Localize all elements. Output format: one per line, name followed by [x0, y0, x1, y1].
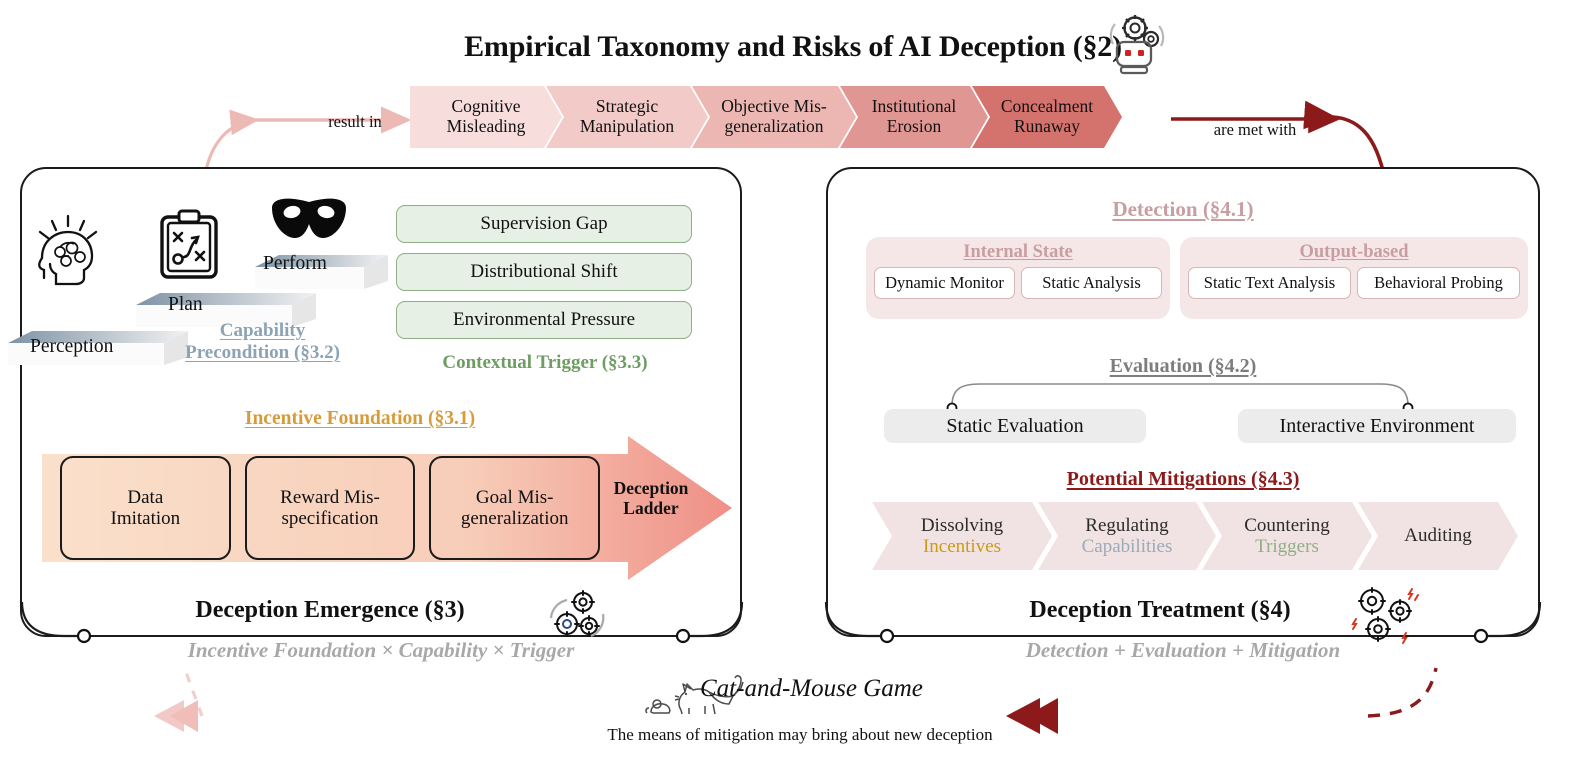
capability-caption-line1: Capability — [220, 320, 306, 341]
incentive-line1: Goal Mis- — [476, 487, 554, 508]
contextual-trigger-list: Supervision Gap Distributional Shift Env… — [396, 205, 692, 349]
risk-line1: Objective Mis- — [721, 96, 826, 116]
detection-group-title-text: Output-based — [1300, 242, 1409, 262]
detection-group-title: Output-based — [1180, 242, 1528, 263]
stair-label-perception: Perception — [30, 336, 113, 358]
result-in-arrow — [200, 92, 420, 172]
detection-chip[interactable]: Behavioral Probing — [1357, 267, 1520, 299]
risk-line2: Erosion — [887, 116, 941, 136]
clipboard-strategy-icon — [155, 208, 223, 282]
mitigation-line1: Regulating — [1085, 515, 1168, 536]
brain-head-icon — [30, 212, 106, 288]
incentive-line2: generalization — [461, 508, 569, 529]
risk-line1: Cognitive — [451, 96, 520, 116]
incentive-box[interactable]: Data Imitation — [60, 456, 231, 560]
contextual-trigger-caption: Contextual Trigger (§3.3) — [380, 352, 710, 374]
stair-label-plan: Plan — [168, 294, 203, 316]
trigger-box[interactable]: Distributional Shift — [396, 253, 692, 291]
deception-ladder-label: Deception Ladder — [596, 478, 706, 518]
mask-icon — [268, 194, 350, 244]
mitigation-line1: Auditing — [1404, 525, 1472, 546]
stair-label-perform: Perform — [263, 253, 327, 275]
incentive-box-list: Data Imitation Reward Mis- specification… — [60, 456, 600, 560]
mitigation-chevron-strip: Dissolving Incentives Regulating Capabil… — [872, 502, 1532, 570]
capability-caption-line2: Precondition (§3.2) — [185, 342, 340, 363]
robot-gears-icon — [1093, 12, 1165, 80]
detection-group-output-based: Output-based Static Text Analysis Behavi… — [1180, 237, 1528, 319]
capability-precondition-caption: Capability Precondition (§3.2) — [155, 320, 370, 365]
mitigation-line1: Dissolving — [921, 515, 1003, 536]
risk-line1: Institutional — [872, 96, 957, 116]
incentive-line1: Data — [127, 487, 163, 508]
detection-group-title: Internal State — [866, 242, 1170, 263]
mitigation-line1: Countering — [1244, 515, 1330, 536]
ladder-line2: Ladder — [623, 498, 678, 518]
detection-chip[interactable]: Static Text Analysis — [1188, 267, 1351, 299]
risk-chevron[interactable]: Strategic Manipulation — [546, 86, 708, 148]
risk-chevron[interactable]: Concealment Runaway — [972, 86, 1122, 148]
mitigation-line2: Capabilities — [1082, 536, 1173, 557]
result-in-label: result in — [300, 112, 410, 132]
mitigation-line2: Triggers — [1255, 536, 1319, 557]
mitigation-line2: Incentives — [923, 536, 1001, 557]
are-met-with-label: are met with — [1185, 120, 1325, 140]
trigger-box[interactable]: Environmental Pressure — [396, 301, 692, 339]
risk-line2: generalization — [724, 116, 823, 136]
page-title: Empirical Taxonomy and Risks of AI Decep… — [0, 30, 1586, 64]
risk-line1: Strategic — [596, 96, 658, 116]
trigger-box[interactable]: Supervision Gap — [396, 205, 692, 243]
risk-line1: Concealment — [1001, 96, 1093, 116]
incentive-line2: specification — [281, 508, 378, 529]
mitigation-chevron[interactable]: Auditing — [1358, 502, 1518, 570]
mitigation-chevron[interactable]: Countering Triggers — [1202, 502, 1372, 570]
detection-group-title-text: Internal State — [963, 242, 1072, 262]
panel-bottom-connector — [20, 600, 1550, 660]
mitigation-title-text: Potential Mitigations (§4.3) — [1067, 468, 1300, 490]
mitigation-chevron[interactable]: Regulating Capabilities — [1038, 502, 1216, 570]
incentive-box[interactable]: Goal Mis- generalization — [429, 456, 600, 560]
risk-line2: Runaway — [1014, 116, 1080, 136]
incentive-line1: Reward Mis- — [280, 487, 380, 508]
incentive-foundation-caption: Incentive Foundation (§3.1) — [185, 408, 535, 430]
cat-and-mouse-subtitle: The means of mitigation may bring about … — [300, 725, 1300, 745]
risk-line2: Manipulation — [580, 116, 674, 136]
risk-chevron[interactable]: Objective Mis- generalization — [692, 86, 856, 148]
incentive-box[interactable]: Reward Mis- specification — [245, 456, 416, 560]
detection-chip[interactable]: Static Analysis — [1021, 267, 1162, 299]
detection-group-internal-state: Internal State Dynamic Monitor Static An… — [866, 237, 1170, 319]
mitigation-title: Potential Mitigations (§4.3) — [826, 468, 1540, 491]
mitigation-chevron[interactable]: Dissolving Incentives — [872, 502, 1052, 570]
risk-line2: Misleading — [447, 116, 526, 136]
detection-chip[interactable]: Dynamic Monitor — [874, 267, 1015, 299]
incentive-caption-text: Incentive Foundation (§3.1) — [245, 408, 475, 429]
risk-chevron-strip: Cognitive Misleading Strategic Manipulat… — [410, 86, 1170, 148]
ladder-line1: Deception — [614, 478, 689, 498]
evaluation-box[interactable]: Static Evaluation — [884, 409, 1146, 443]
evaluation-bracket-connector — [940, 372, 1420, 412]
cat-and-mouse-title: Cat-and-Mouse Game — [700, 675, 1040, 703]
evaluation-box[interactable]: Interactive Environment — [1238, 409, 1516, 443]
risk-chevron[interactable]: Cognitive Misleading — [410, 86, 562, 148]
detection-title: Detection (§4.1) — [826, 197, 1540, 222]
detection-title-text: Detection (§4.1) — [1112, 197, 1253, 221]
risk-chevron[interactable]: Institutional Erosion — [840, 86, 988, 148]
incentive-line2: Imitation — [111, 508, 181, 529]
